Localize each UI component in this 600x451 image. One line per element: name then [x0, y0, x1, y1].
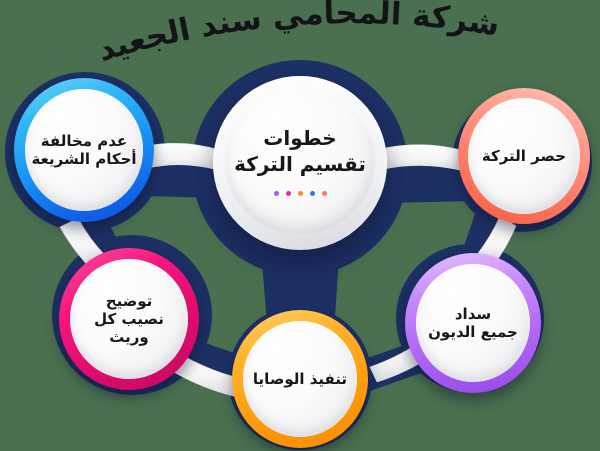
node-heir-share-face: توضيح نصيب كل وريث [70, 259, 188, 379]
node-pay-debts-face: سداد جميع الديون [416, 264, 530, 382]
hub-dots [274, 191, 327, 196]
node-pay-debts[interactable]: سداد جميع الديون [405, 253, 541, 393]
node-heir-share-line1: توضيح [76, 292, 182, 310]
title-text: شركة المحامي سند الجعيد [94, 0, 502, 69]
node-shariah-line1: عدم مخالفة [31, 132, 136, 150]
hub-label: خطوات تقسيم التركة [234, 125, 366, 177]
node-estate-inventory-line1: حصر التركة [482, 147, 566, 165]
node-execute-wills-label: تنفيذ الوصايا [247, 370, 353, 388]
hub-face: خطوات تقسيم التركة [224, 85, 376, 235]
node-heir-share[interactable]: توضيح نصيب كل وريث [59, 248, 199, 390]
page-title: شركة المحامي سند الجعيد [0, 0, 600, 72]
node-pay-debts-label: سداد جميع الديون [422, 305, 524, 342]
node-execute-wills[interactable]: تنفيذ الوصايا [232, 310, 368, 448]
node-estate-inventory-label: حصر التركة [476, 147, 572, 165]
hub-dot-5 [322, 191, 327, 196]
hub-node[interactable]: خطوات تقسيم التركة [213, 76, 387, 250]
hub-label-line2: تقسيم التركة [234, 151, 366, 177]
node-pay-debts-line1: سداد [428, 305, 518, 323]
hub-dot-2 [286, 191, 291, 196]
infographic-stage: شركة المحامي سند الجعيد خطوات تقسيم التر… [0, 0, 600, 451]
hub-label-line1: خطوات [234, 125, 366, 151]
node-heir-share-line2: نصيب كل وريث [76, 310, 182, 347]
node-shariah-label: عدم مخالفة أحكام الشريعة [25, 132, 142, 169]
node-shariah-line2: أحكام الشريعة [31, 150, 136, 168]
node-pay-debts-line2: جميع الديون [428, 323, 518, 341]
link-shariah-hub [144, 143, 220, 170]
link-hub-inventory [384, 145, 466, 171]
node-estate-inventory[interactable]: حصر التركة [458, 88, 590, 224]
hub-dot-3 [298, 191, 303, 196]
hub-dot-4 [310, 191, 315, 196]
hub-dot-1 [274, 191, 279, 196]
node-estate-inventory-face: حصر التركة [468, 98, 580, 214]
node-heir-share-label: توضيح نصيب كل وريث [70, 292, 188, 347]
node-execute-wills-face: تنفيذ الوصايا [243, 321, 357, 437]
node-execute-wills-line1: تنفيذ الوصايا [253, 370, 347, 388]
node-shariah[interactable]: عدم مخالفة أحكام الشريعة [14, 78, 154, 222]
node-shariah-face: عدم مخالفة أحكام الشريعة [25, 89, 143, 211]
